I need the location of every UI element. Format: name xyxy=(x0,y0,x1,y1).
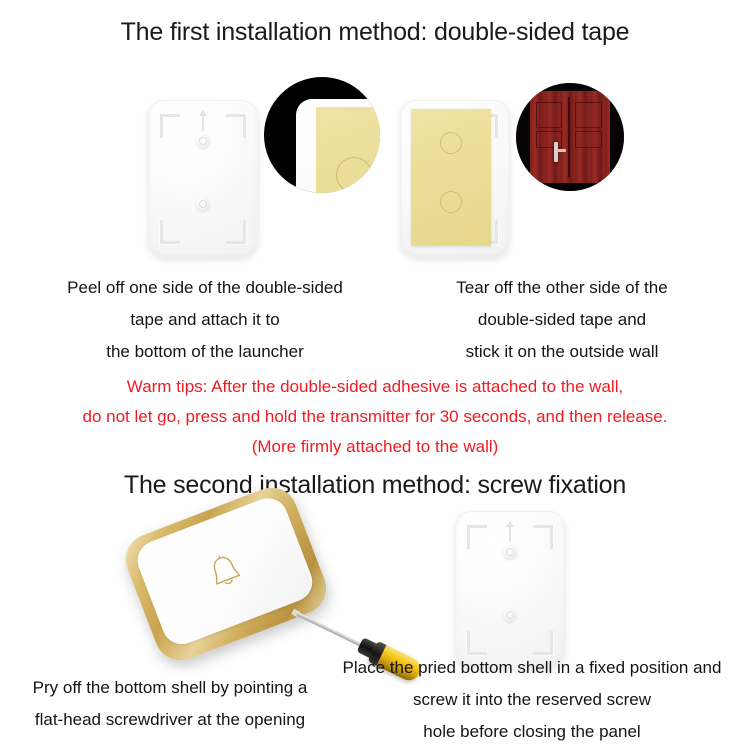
corner-bracket-bottom-right-screw xyxy=(533,631,553,655)
page-title-method-two: The second installation method: screw fi… xyxy=(0,470,750,500)
corner-bracket-bottom-left-screw xyxy=(467,631,487,655)
corner-bracket-bottom-left xyxy=(160,220,180,244)
adhesive-tape-overlay xyxy=(411,109,491,246)
caption-line: flat-head screwdriver at the opening xyxy=(8,704,332,736)
door-center-split xyxy=(568,97,570,177)
tape-ring-top xyxy=(440,132,462,154)
page-title-method-one: The first installation method: double-si… xyxy=(0,17,750,47)
up-arrow-icon-screw xyxy=(509,524,511,542)
door-panel-upper-right xyxy=(575,102,603,128)
inset-red-door-photo xyxy=(516,83,624,191)
mounting-plate-inner xyxy=(157,109,250,249)
figure-mounting-plate-screw xyxy=(455,511,565,669)
caption-line: Place the pried bottom shell in a fixed … xyxy=(320,652,744,684)
screw-hole-bottom xyxy=(196,197,210,211)
caption-line: Pry off the bottom shell by pointing a xyxy=(8,672,332,704)
corner-bracket-bottom-right xyxy=(226,220,246,244)
caption-line: stick it on the outside wall xyxy=(392,336,732,368)
closeup-tape-ring xyxy=(336,157,372,193)
screwdriver-shaft xyxy=(296,612,364,648)
door-panel-lower-left xyxy=(536,131,562,148)
door-photo-vignette xyxy=(516,83,624,191)
caption-line: Tear off the other side of the xyxy=(392,272,732,304)
caption-peel-one-side: Peel off one side of the double-sided ta… xyxy=(30,272,380,368)
caption-line: the bottom of the launcher xyxy=(30,336,380,368)
inset-tape-peel-closeup xyxy=(264,77,380,193)
warning-line-3: (More firmly attached to the wall) xyxy=(0,432,750,462)
corner-bracket-top-left xyxy=(160,114,180,138)
caption-line: tape and attach it to xyxy=(30,304,380,336)
screw-hole-top-screw xyxy=(503,545,517,559)
corner-bracket-top-right-screw xyxy=(533,525,553,549)
caption-pry-off-shell: Pry off the bottom shell by pointing a f… xyxy=(8,672,332,736)
figure-mounting-plate-taped xyxy=(400,100,510,258)
caption-line: double-sided tape and xyxy=(392,304,732,336)
up-arrow-icon xyxy=(202,113,204,131)
closeup-adhesive-tape xyxy=(316,107,380,193)
figure-mounting-plate-bare xyxy=(148,100,258,258)
instruction-page: The first installation method: double-si… xyxy=(0,0,750,750)
caption-line: Peel off one side of the double-sided xyxy=(30,272,380,304)
caption-line: hole before closing the panel xyxy=(320,716,744,748)
door-panel-upper-left xyxy=(536,102,562,128)
caption-line: screw it into the reserved screw xyxy=(320,684,744,716)
mounting-plate-body-screw xyxy=(455,511,565,669)
door-body xyxy=(530,91,610,184)
warning-line-1: Warm tips: After the double-sided adhesi… xyxy=(0,372,750,402)
mounting-plate-body-taped xyxy=(400,100,510,258)
screw-hole-bottom-screw xyxy=(503,608,517,622)
bell-icon xyxy=(203,548,248,594)
tape-ring-bottom xyxy=(440,191,462,213)
mounting-plate-inner-screw xyxy=(464,520,557,660)
warning-line-2: do not let go, press and hold the transm… xyxy=(0,402,750,432)
door-panel-lower-right xyxy=(575,131,603,148)
caption-place-shell-screw: Place the pried bottom shell in a fixed … xyxy=(320,652,744,748)
corner-bracket-top-left-screw xyxy=(467,525,487,549)
caption-tear-other-side: Tear off the other side of the double-si… xyxy=(392,272,732,368)
mounting-plate-body xyxy=(148,100,258,258)
screw-hole-top xyxy=(196,134,210,148)
door-handle xyxy=(554,142,558,162)
corner-bracket-top-right xyxy=(226,114,246,138)
